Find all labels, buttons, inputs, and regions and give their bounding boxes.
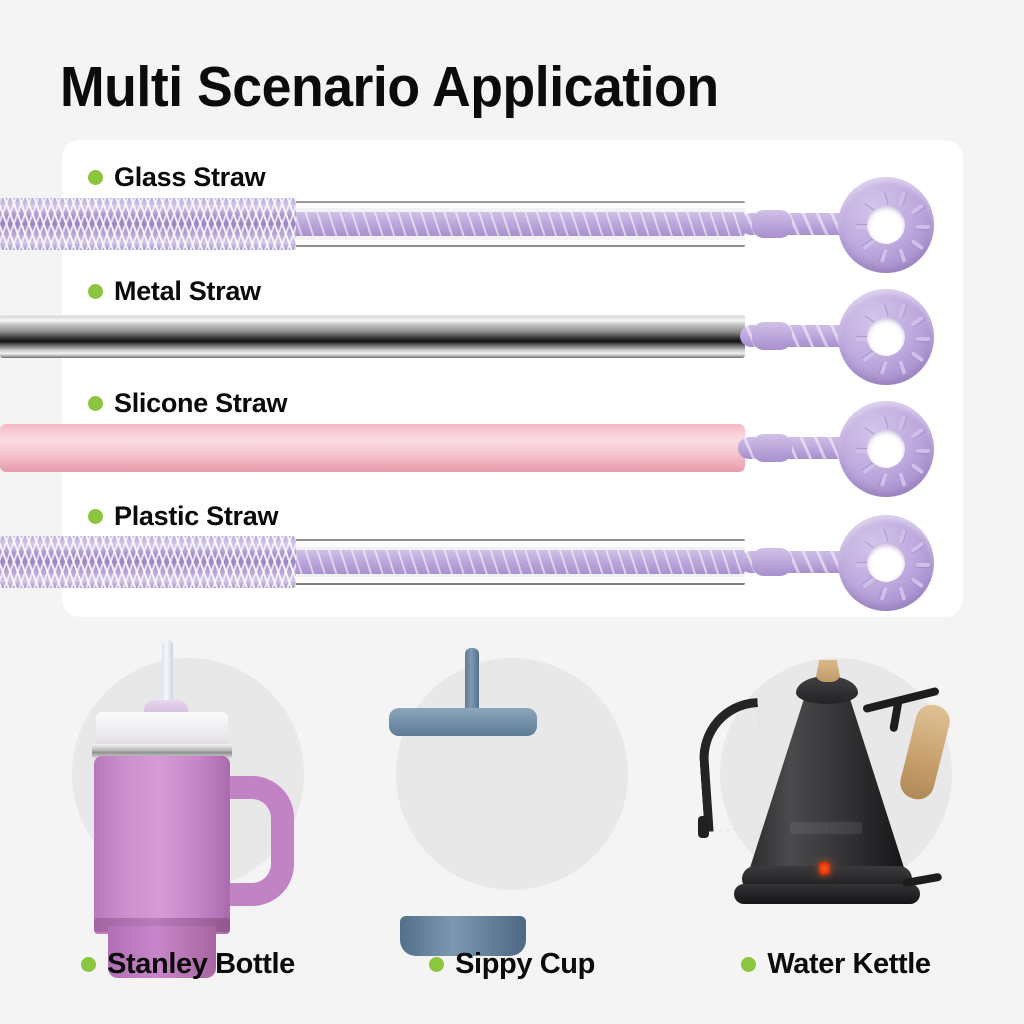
kettle-gooseneck-spout — [696, 698, 767, 832]
metal-neck-collar — [752, 322, 792, 350]
stanley-tumbler-icon — [38, 640, 338, 940]
product-showcase: Stanley Bottle Sippy Cup — [0, 640, 1024, 1024]
silicone-neck-collar — [752, 434, 792, 462]
plastic-neck-collar — [752, 548, 792, 576]
tumbler-lid — [96, 712, 228, 748]
product-sippy-cup: Sippy Cup — [362, 640, 662, 940]
straw-row-label-silicone: Slicone Straw — [88, 388, 287, 419]
green-dot-icon — [88, 509, 103, 524]
metal-tube — [0, 314, 745, 358]
glass-bristles — [0, 198, 296, 250]
donut-ring-icon — [838, 289, 934, 385]
green-dot-icon — [88, 396, 103, 411]
kettle-spout-tip — [698, 816, 709, 838]
straw-silicone — [0, 417, 1024, 479]
straw-row-label-metal: Metal Straw — [88, 276, 261, 307]
page-title: Multi Scenario Application — [60, 56, 906, 118]
donut-ring-icon — [838, 401, 934, 497]
green-dot-icon — [741, 957, 756, 972]
kettle-logo — [790, 822, 862, 834]
donut-ring-icon — [838, 177, 934, 273]
product-water-kettle: Water Kettle — [686, 640, 986, 940]
kettle-power-plate — [734, 884, 920, 904]
green-dot-icon — [429, 957, 444, 972]
tumbler-body — [94, 756, 230, 934]
donut-ring-icon — [838, 515, 934, 611]
straw-metal — [0, 305, 1024, 367]
silicone-tube — [0, 424, 745, 472]
straw-row-label-glass: Glass Straw — [88, 162, 265, 193]
product-caption-water-kettle: Water Kettle — [686, 948, 986, 981]
kettle-wood-knob — [815, 660, 841, 682]
kettle-body — [748, 696, 906, 874]
product-caption-sippy-cup: Sippy Cup — [362, 948, 662, 981]
donut-hole — [867, 318, 905, 356]
product-stanley-bottle: Stanley Bottle — [38, 640, 338, 940]
straw-plastic — [0, 531, 1024, 593]
straw-row-label-plastic: Plastic Straw — [88, 501, 278, 532]
plastic-bristles — [0, 536, 296, 588]
green-dot-icon — [88, 284, 103, 299]
glass-neck-collar — [752, 210, 792, 238]
donut-hole — [867, 544, 905, 582]
straw-glass — [0, 193, 1024, 255]
donut-hole — [867, 430, 905, 468]
product-caption-stanley-bottle: Stanley Bottle — [38, 948, 338, 981]
sippy-cup-icon — [362, 640, 662, 940]
donut-hole — [867, 206, 905, 244]
green-dot-icon — [88, 170, 103, 185]
cup-body — [394, 720, 532, 942]
kettle-indicator-light — [819, 862, 830, 875]
gooseneck-kettle-icon — [686, 640, 986, 940]
kettle-wood-handle — [897, 701, 953, 802]
infographic-root: Multi Scenario Application Glass Straw — [0, 0, 1024, 1024]
green-dot-icon — [81, 957, 96, 972]
